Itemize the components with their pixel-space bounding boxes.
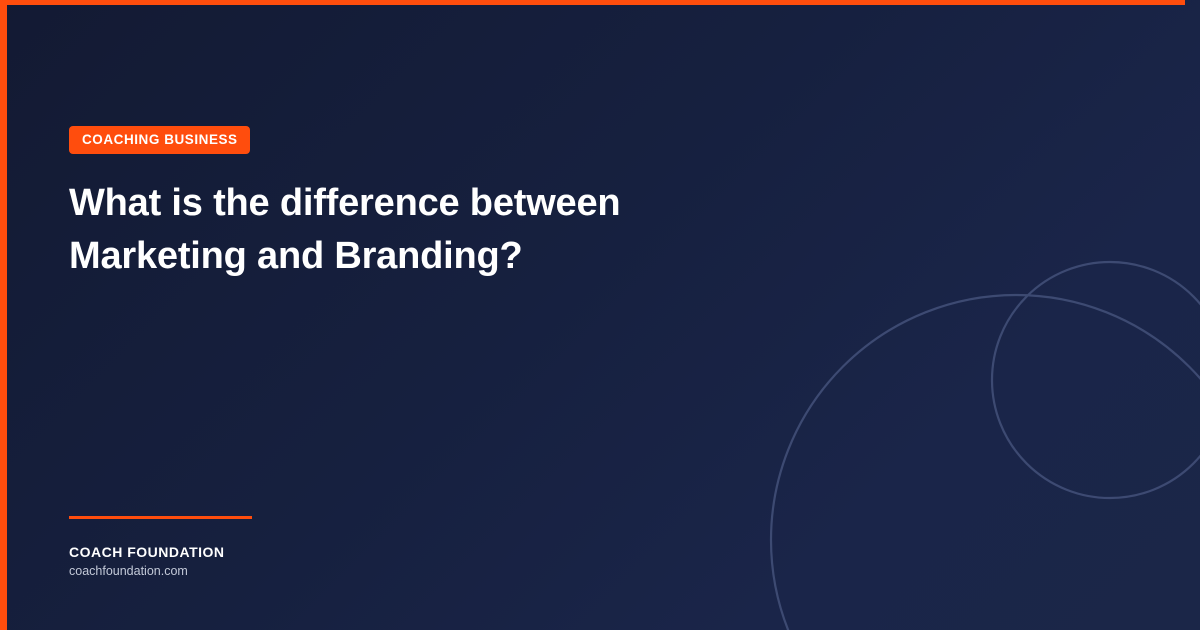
brand-name: COACH FOUNDATION <box>69 545 369 560</box>
small-circle-icon <box>992 262 1200 498</box>
footer-divider <box>69 516 252 519</box>
social-card: COACHING BUSINESS What is the difference… <box>0 0 1200 630</box>
accent-bar-top <box>0 0 1185 5</box>
card-footer: COACH FOUNDATION coachfoundation.com <box>69 516 369 579</box>
large-circle-icon <box>771 295 1200 630</box>
accent-bar-left <box>0 0 7 630</box>
brand-url: coachfoundation.com <box>69 565 369 579</box>
page-title: What is the difference between Marketing… <box>69 177 709 283</box>
card-content: COACHING BUSINESS What is the difference… <box>69 0 769 630</box>
category-badge: COACHING BUSINESS <box>69 126 250 154</box>
